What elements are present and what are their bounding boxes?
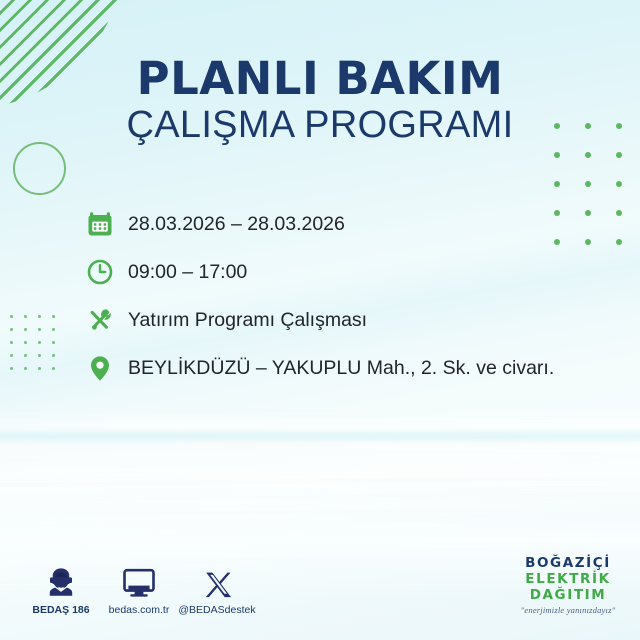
x-logo-icon [202, 563, 232, 599]
logo-tagline: "enerjimizle yanınızdayız" [510, 605, 626, 615]
detail-work-type-text: Yatırım Programı Çalışması [128, 309, 367, 332]
detail-time-text: 09:00 – 17:00 [128, 261, 247, 284]
detail-date-text: 28.03.2026 – 28.03.2026 [128, 213, 345, 236]
contact-label-website: bedas.com.tr [109, 604, 170, 616]
dot-grid-left-decoration [10, 315, 66, 380]
detail-row-work-type: Yatırım Programı Çalışması [86, 296, 606, 344]
contact-label-call-center: BEDAŞ 186 [32, 604, 89, 616]
logo-line-bogazici: BOĞAZİÇİ [510, 556, 626, 572]
title-line-secondary: ÇALIŞMA PROGRAMI [0, 104, 640, 147]
detail-row-location: BEYLİKDÜZÜ – YAKUPLU Mah., 2. Sk. ve civ… [86, 344, 606, 392]
footer-contacts: BEDAŞ 186 bedas.com.tr @BEDASdestek [22, 563, 256, 616]
contact-item-call-center[interactable]: BEDAŞ 186 [22, 563, 100, 616]
detail-row-time: 09:00 – 17:00 [86, 248, 606, 296]
logo-line-elektrik: ELEKTRİK [510, 572, 626, 588]
monitor-icon [122, 563, 156, 599]
detail-location-text: BEYLİKDÜZÜ – YAKUPLU Mah., 2. Sk. ve civ… [128, 357, 554, 380]
logo-line-dagitim: DAĞITIM [510, 588, 626, 604]
bedas-logo: BOĞAZİÇİ ELEKTRİK DAĞITIM "enerjimizle y… [510, 556, 626, 615]
calendar-icon [86, 210, 128, 238]
contact-label-x-handle: @BEDASdestek [178, 604, 255, 616]
clock-icon [86, 258, 128, 286]
detail-row-date: 28.03.2026 – 28.03.2026 [86, 200, 606, 248]
circle-outline-decoration [13, 142, 66, 195]
contact-item-website[interactable]: bedas.com.tr [100, 563, 178, 616]
title-line-primary: PLANLI BAKIM [0, 56, 640, 102]
location-pin-icon [86, 354, 128, 382]
page-title: PLANLI BAKIM ÇALIŞMA PROGRAMI [0, 56, 640, 146]
call-center-agent-icon [45, 563, 77, 599]
tools-icon [86, 306, 128, 334]
planned-maintenance-poster: PLANLI BAKIM ÇALIŞMA PROGRAMI [0, 0, 640, 640]
contact-item-x-handle[interactable]: @BEDASdestek [178, 563, 256, 616]
outage-details-list: 28.03.2026 – 28.03.2026 09:00 – 17:00 [86, 200, 606, 392]
